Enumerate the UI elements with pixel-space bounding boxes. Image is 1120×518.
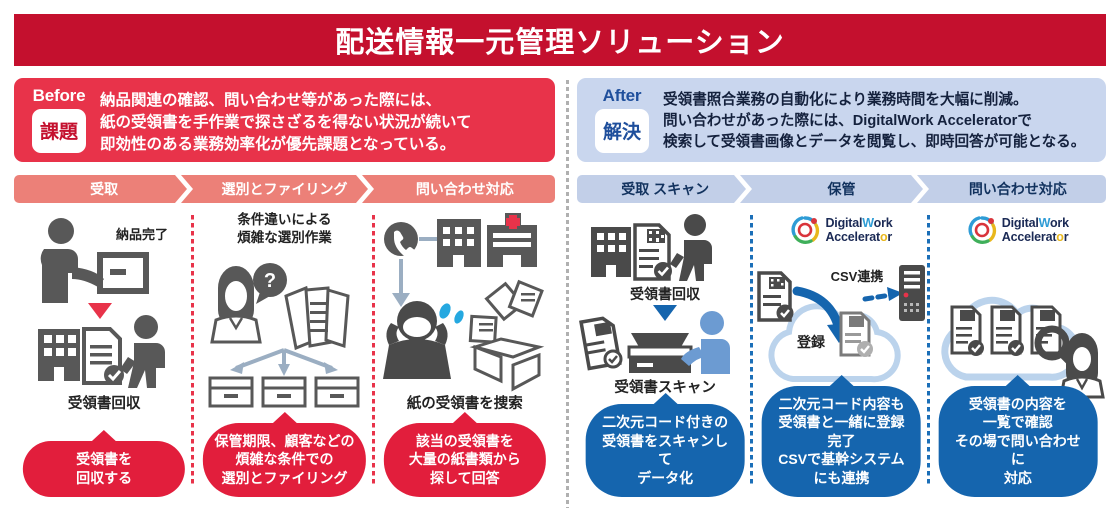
after-desc-line-1: 受領書照合業務の自動化により業務時間を大幅に削減。 (663, 90, 1085, 111)
walking-person-icon (120, 315, 165, 388)
operator-person-icon (681, 311, 730, 374)
before-desc-line-2: 紙の受領書を手作業で探さざるを得ない状況が続いて (100, 112, 472, 134)
bubble-line: 保管期限、顧客などの (213, 432, 355, 450)
phone-icon (384, 222, 418, 259)
before-col3-illustration (375, 211, 555, 395)
dwa-logo-line-2: Accelerator (1002, 230, 1069, 244)
server-icon (899, 265, 925, 321)
stored-qr-receipt-icon (952, 307, 984, 356)
after-desc-line-2: 問い合わせがあった際には、DigitalWork Acceleratorで (663, 111, 1085, 132)
bubble-line: 選別とファイリング (213, 469, 355, 487)
after-column-3: DigitalWork Accelerator (930, 211, 1106, 503)
csv-link-arrow-icon (865, 295, 891, 299)
bubble-line: にも連携 (772, 469, 911, 487)
after-col2-cloud-label: 登録 (796, 334, 826, 350)
qr-receipt-icon (635, 225, 672, 280)
before-column-2: 条件違いによる 煩雑な選別作業 ? (194, 211, 374, 503)
before-step-3: 問い合わせ対応 (375, 175, 555, 203)
delivery-person-icon (41, 218, 104, 303)
before-step-bar: 受取 選別とファイリング 問い合わせ対応 (14, 175, 555, 203)
before-step-2-label: 選別とファイリング (221, 179, 347, 199)
chevron-right-icon (175, 175, 195, 203)
bubble-line: 探して回答 (394, 469, 536, 487)
question-bubble-icon: ? (253, 263, 287, 304)
after-header-box: After 解決 受領書照合業務の自動化により業務時間を大幅に削減。 問い合わせ… (577, 78, 1106, 162)
after-badge: After 解決 (589, 87, 655, 153)
page-title-bar: 配送情報一元管理ソリューション (14, 14, 1106, 66)
before-step-2: 選別とファイリング (194, 175, 374, 203)
before-columns: 納品完了 (14, 211, 555, 503)
before-description: 納品関連の確認、問い合わせ等があった際には、 紙の受領書を手作業で探さざるを得な… (92, 87, 472, 156)
after-col1-illustration: 受領書回収 (577, 211, 753, 379)
dwa-logo-text: DigitalWork Accelerator (1002, 216, 1069, 244)
scanner-icon (629, 333, 691, 373)
before-header-box: Before 課題 納品関連の確認、問い合わせ等があった際には、 紙の受領書を手… (14, 78, 555, 162)
before-col3-caption: 紙の受領書を捜索 (407, 395, 523, 413)
bubble-line: 受領書の内容を (948, 395, 1087, 413)
dwa-logo-mark-icon (967, 215, 997, 245)
down-arrow-icon (653, 305, 677, 321)
after-step-bar: 受取 スキャン 保管 問い合わせ対応 (577, 175, 1106, 203)
section-divider (566, 80, 569, 508)
before-col2-subhead-l1: 条件違いによる (237, 211, 332, 229)
dwa-logo-mark-icon (790, 215, 820, 245)
open-box-icon (475, 339, 539, 389)
after-col1-caption-top: 受領書回収 (630, 286, 701, 302)
chevron-right-icon (734, 175, 754, 203)
bubble-line: 受領書と一緒に登録完了 (772, 413, 911, 450)
bubble-line: 二次元コード付きの (596, 413, 735, 431)
after-column-1: 受領書回収 (577, 211, 753, 503)
dwa-logo: DigitalWork Accelerator (967, 215, 1069, 245)
building-icon (591, 227, 631, 277)
bubble-line: 回収する (33, 469, 175, 487)
after-step-3: 問い合わせ対応 (930, 175, 1106, 203)
after-description: 受領書照合業務の自動化により業務時間を大幅に削減。 問い合わせがあった際には、D… (655, 87, 1085, 153)
after-step-2-label: 保管 (827, 179, 855, 199)
before-col1-caption: 受領書回収 (68, 395, 141, 413)
after-col2-bubble: 二次元コード内容も 受領書と一緒に登録完了 CSVで基幹システム にも連携 (762, 386, 921, 497)
after-desc-line-3: 検索して受領書画像とデータを閲覧し、即時回答が可能となる。 (663, 132, 1085, 153)
after-panel: After 解決 受領書照合業務の自動化により業務時間を大幅に削減。 問い合わせ… (577, 78, 1106, 512)
before-step-1-label: 受取 (90, 179, 118, 199)
before-col1-illustration: 納品完了 (14, 211, 194, 395)
dwa-logo-line-1: DigitalWork (1002, 216, 1069, 230)
before-badge-box: 課題 (32, 109, 86, 153)
bubble-line: 受領書をスキャンして (596, 432, 735, 469)
before-badge: Before 課題 (26, 87, 92, 153)
before-col1-top-label: 納品完了 (116, 227, 168, 242)
after-step-3-label: 問い合わせ対応 (969, 179, 1067, 199)
dwa-logo: DigitalWork Accelerator (790, 215, 892, 245)
office-building-icon (437, 219, 481, 267)
after-badge-box: 解決 (595, 109, 649, 153)
before-column-1: 納品完了 (14, 211, 194, 503)
bubble-line: 大量の紙書類から (394, 450, 536, 468)
bubble-line: その場で問い合わせに (948, 432, 1087, 469)
sweat-drop-icon (437, 302, 465, 325)
before-col2-subhead-l2: 煩雑な選別作業 (237, 229, 332, 247)
chevron-right-icon (911, 175, 931, 203)
before-badge-label: Before (33, 87, 86, 105)
before-column-3: 紙の受領書を捜索 該当の受領書を 大量の紙書類から 探して回答 (375, 211, 555, 503)
before-col2-illustration: ? (194, 250, 374, 410)
after-step-1: 受取 スキャン (577, 175, 753, 203)
before-col2-bubble: 保管期限、顧客などの 煩雑な条件での 選別とファイリング (203, 423, 365, 497)
bubble-line: 煩雑な条件での (213, 450, 355, 468)
chevron-right-icon (356, 175, 376, 203)
after-columns: 受領書回収 (577, 211, 1106, 503)
before-col3-bubble: 該当の受領書を 大量の紙書類から 探して回答 (384, 423, 546, 497)
hospital-building-icon (487, 213, 537, 267)
before-panel: Before 課題 納品関連の確認、問い合わせ等があった際には、 紙の受領書を手… (14, 78, 555, 512)
down-arrow-icon (88, 303, 112, 319)
scattered-papers-icon (468, 281, 543, 345)
confused-woman-icon (212, 266, 260, 342)
bubble-line: 受領書を (33, 450, 175, 468)
before-step-3-label: 問い合わせ対応 (416, 179, 514, 199)
after-col3-bubble: 受領書の内容を 一覧で確認 その場で問い合わせに 対応 (938, 386, 1097, 497)
bubble-line: 一覧で確認 (948, 413, 1087, 431)
storage-boxes-icon (210, 378, 358, 406)
after-step-2: 保管 (753, 175, 929, 203)
page-title: 配送情報一元管理ソリューション (335, 19, 784, 61)
dwa-logo-line-2: Accelerator (825, 230, 892, 244)
bubble-line: 該当の受領書を (394, 432, 536, 450)
after-col1-bubble: 二次元コード付きの 受領書をスキャンして データ化 (586, 404, 745, 497)
bubble-line: データ化 (596, 469, 735, 487)
qr-receipt-icon (581, 317, 621, 369)
qr-receipt-icon (759, 273, 794, 322)
package-box-icon (100, 255, 146, 291)
after-badge-label: After (603, 87, 642, 105)
before-col2-subhead: 条件違いによる 煩雑な選別作業 (237, 211, 332, 246)
bubble-line: CSVで基幹システム (772, 450, 911, 468)
before-step-1: 受取 (14, 175, 194, 203)
svg-text:?: ? (264, 270, 276, 292)
bubble-line: 対応 (948, 469, 1087, 487)
before-col1-bubble: 受領書を 回収する (23, 441, 185, 497)
dwa-logo-text: DigitalWork Accelerator (825, 216, 892, 244)
receipt-document-icon (84, 329, 124, 385)
dwa-logo-line-1: DigitalWork (825, 216, 892, 230)
after-step-1-label: 受取 スキャン (621, 179, 709, 199)
paper-stack-icon (286, 288, 348, 348)
stored-qr-receipt-icon (841, 313, 873, 357)
before-desc-line-3: 即効性のある業務効率化が優先課題となっている。 (100, 134, 472, 156)
after-column-2: DigitalWork Accelerator (753, 211, 929, 503)
walking-person-icon (670, 214, 712, 281)
after-col2-csv-label: CSV連携 (831, 269, 884, 284)
before-desc-line-1: 納品関連の確認、問い合わせ等があった際には、 (100, 90, 472, 112)
bubble-line: 二次元コード内容も (772, 395, 911, 413)
stored-qr-receipt-icon (992, 307, 1024, 356)
